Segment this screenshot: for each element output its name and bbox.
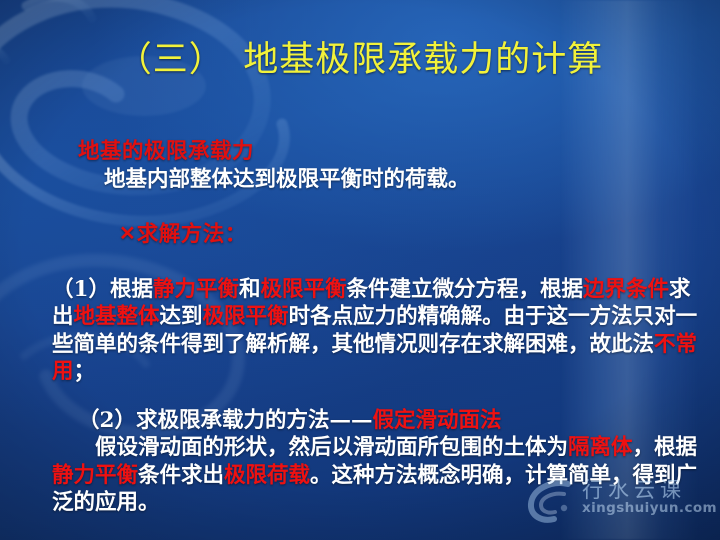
text-run: （2）求极限承载力的方法—— (78, 408, 372, 433)
text-run: 和 (239, 277, 261, 302)
method-label: 求解方法： (137, 222, 247, 247)
text-run: 静力平衡 (52, 463, 138, 488)
method-bullet-line: ✕求解方法： (52, 193, 700, 276)
text-run: 边界条件 (583, 277, 669, 302)
section-heading: 地基的极限承载力 (52, 138, 700, 166)
cross-bullet-icon: ✕ (119, 220, 136, 248)
definition-text: 地基内部整体达到极限平衡时的荷载。 (52, 166, 700, 194)
text-run: 极限平衡 (203, 304, 289, 329)
text-run: 假设滑动面的形状，然后以滑动面所包围的土体为 (52, 435, 568, 460)
method-item-1: （1）根据静力平衡和极限平衡条件建立微分方程，根据边界条件求出地基整体达到极限平… (52, 276, 700, 386)
text-run: 隔离体 (568, 435, 633, 460)
slide-title: （三） 地基极限承载力的计算 (0, 38, 720, 82)
text-run: ，根据 (633, 435, 698, 460)
method-item-2-body: 假设滑动面的形状，然后以滑动面所包围的土体为隔离体，根据静力平衡条件求出极限荷载… (52, 434, 700, 517)
paragraph-spacer (52, 386, 700, 407)
text-run: 静力平衡 (153, 277, 239, 302)
text-run: 地基整体 (74, 304, 160, 329)
text-run: 假定滑动面法 (372, 408, 501, 433)
text-run: ； (74, 359, 96, 384)
slide-body: 地基的极限承载力 地基内部整体达到极限平衡时的荷载。 ✕求解方法： （1）根据静… (52, 138, 700, 517)
method-item-2-title: （2）求极限承载力的方法——假定滑动面法 (52, 407, 700, 435)
text-run: 极限荷载 (224, 463, 310, 488)
text-run: 条件求出 (138, 463, 224, 488)
text-run: 极限平衡 (261, 277, 347, 302)
text-run: （1）根据 (52, 277, 153, 302)
text-run: 条件建立微分方程，根据 (347, 277, 584, 302)
slide-canvas: （三） 地基极限承载力的计算 地基的极限承载力 地基内部整体达到极限平衡时的荷载… (0, 0, 720, 540)
text-run: 达到 (160, 304, 203, 329)
